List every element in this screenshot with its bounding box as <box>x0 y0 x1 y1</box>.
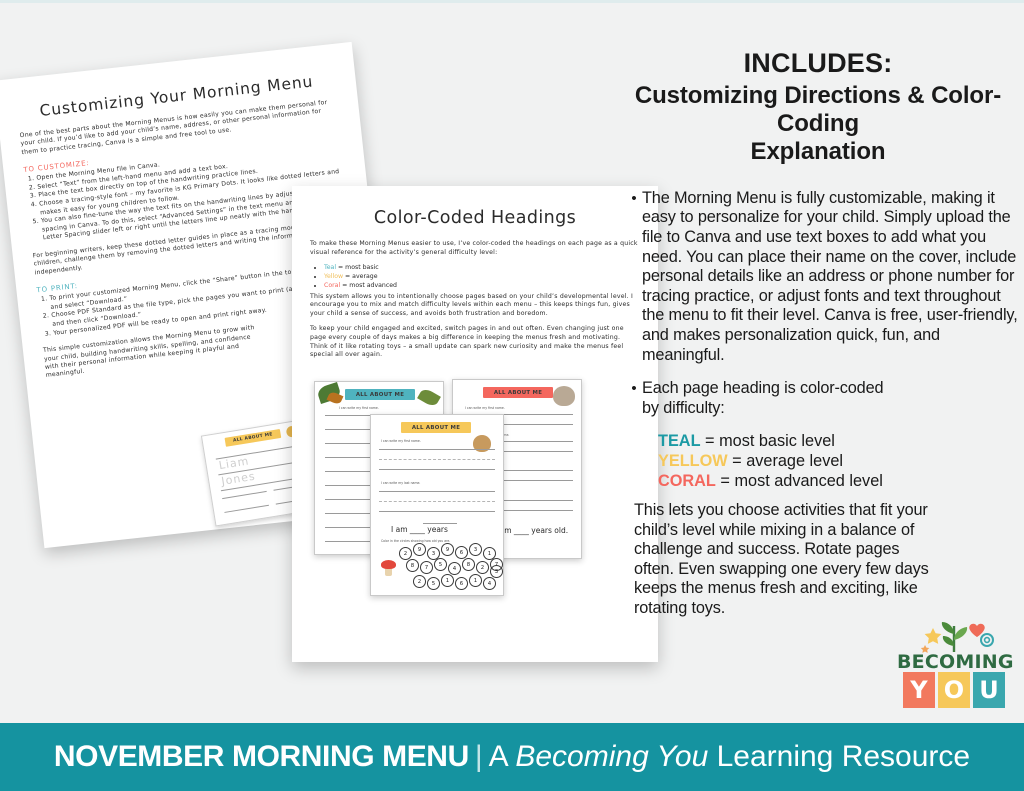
number-circle: 5 <box>427 577 440 590</box>
worksheet-thumbnail-yellow: ALL ABOUT ME I can write my first name. … <box>370 414 504 596</box>
list-item: • The Morning Menu is fully customizable… <box>626 189 1024 365</box>
logo-block-o: O <box>938 672 970 708</box>
doc-color-coded-intro: To make these Morning Menus easier to us… <box>310 240 640 257</box>
banner-text: NOVEMBER MORNING MENU|A Becoming You Lea… <box>54 740 970 774</box>
number-circle: 7 <box>420 561 433 574</box>
number-circle: 5 <box>434 558 447 571</box>
number-circle: 2 <box>413 575 426 588</box>
acorn-icon <box>327 391 344 406</box>
thumbnail-header-label: ALL ABOUT ME <box>225 429 282 447</box>
legend-desc-coral: = most advanced level <box>716 472 883 490</box>
color-legend: TEAL = most basic level YELLOW = average… <box>658 432 1024 491</box>
doc-color-coded-para3: To keep your child engaged and excited, … <box>310 325 640 359</box>
number-circle: 9 <box>441 543 454 556</box>
worksheet-age-line: I am ____ years <box>391 525 448 534</box>
worksheet-prompt: I can write my first name. <box>339 406 379 410</box>
legend-row-coral: CORAL = most advanced level <box>658 472 1024 492</box>
bullet-marker: • <box>626 189 642 365</box>
level-rest: = average <box>343 273 377 280</box>
level-rest: = most basic <box>336 264 379 271</box>
number-circle: 8 <box>406 559 419 572</box>
document-color-coded-headings[interactable]: Color-Coded Headings To make these Morni… <box>292 186 658 662</box>
level-rest: = most advanced <box>340 282 397 289</box>
worksheet-header-yellow: ALL ABOUT ME <box>401 422 471 433</box>
number-circle: 2 <box>399 547 412 560</box>
list-item: Yellow = average <box>324 273 640 282</box>
bullet-marker: • <box>626 379 642 418</box>
list-item: • Each page heading is color-coded by di… <box>626 379 1024 418</box>
doc-color-coded-title: Color-Coded Headings <box>310 208 640 228</box>
banner-brand: Becoming You <box>515 740 708 773</box>
logo-block-u: U <box>973 672 1005 708</box>
worksheet-prompt: I can write my last name. <box>381 481 420 485</box>
worksheet-header-teal: ALL ABOUT ME <box>345 389 415 400</box>
includes-line-2: Customizing Directions & Color-Coding <box>612 82 1024 139</box>
banner-suffix: Learning Resource <box>708 740 970 773</box>
number-circle: 6 <box>455 546 468 559</box>
worksheet-prompt: I can write my first name. <box>381 439 421 443</box>
bottom-banner: NOVEMBER MORNING MENU|A Becoming You Lea… <box>0 723 1024 791</box>
banner-prefix: A <box>489 740 516 773</box>
logo-letter-blocks: Y O U <box>903 672 1005 708</box>
logo-word-becoming: BECOMING <box>897 651 1009 673</box>
right-content-column: INCLUDES: Customizing Directions & Color… <box>612 48 1024 708</box>
level-key-yellow: Yellow <box>324 273 343 280</box>
worksheet-prompt: I can write my first name. <box>465 406 505 410</box>
legend-row-teal: TEAL = most basic level <box>658 432 1024 452</box>
legend-row-yellow: YELLOW = average level <box>658 452 1024 472</box>
doc-color-coded-levels: Teal = most basic Yellow = average Coral… <box>310 264 640 290</box>
level-key-coral: Coral <box>324 282 340 289</box>
raccoon-icon <box>553 386 575 406</box>
list-item: Coral = most advanced <box>324 282 640 291</box>
sprig-decoration-icon <box>911 618 997 654</box>
number-circle: 2 <box>476 561 489 574</box>
worksheet-header-coral: ALL ABOUT ME <box>483 387 553 398</box>
banner-separator: | <box>469 740 489 773</box>
number-circle: 3 <box>469 543 482 556</box>
number-circle: 4 <box>448 562 461 575</box>
number-circle: 6 <box>455 577 468 590</box>
number-circle: 1 <box>469 574 482 587</box>
banner-title: NOVEMBER MORNING MENU <box>54 740 469 773</box>
number-circle: 9 <box>413 543 426 556</box>
legend-key-teal: TEAL <box>658 432 701 450</box>
top-hairline <box>0 0 1024 3</box>
legend-desc-yellow: = average level <box>728 452 843 470</box>
number-circle: 1 <box>441 574 454 587</box>
includes-line-1: INCLUDES: <box>612 48 1024 80</box>
legend-key-yellow: YELLOW <box>658 452 728 470</box>
includes-headline: INCLUDES: Customizing Directions & Color… <box>612 48 1024 167</box>
leaf-icon <box>417 387 441 408</box>
legend-desc-teal: = most basic level <box>701 432 835 450</box>
mushroom-icon <box>381 560 396 569</box>
bullet-list: • The Morning Menu is fully customizable… <box>612 189 1024 419</box>
includes-line-3: Explanation <box>612 138 1024 166</box>
level-key-teal: Teal <box>324 264 336 271</box>
number-circle: 4 <box>483 577 496 590</box>
doc-color-coded-para2: This system allows you to intentionally … <box>310 293 640 319</box>
logo-block-y: Y <box>903 672 935 708</box>
becoming-you-logo: BECOMING Y O U <box>897 618 1009 710</box>
closing-paragraph: This lets you choose activities that fit… <box>634 501 934 619</box>
worksheet-subprompt: Color in the circles showing how old you… <box>381 539 450 543</box>
number-circle: 8 <box>462 558 475 571</box>
legend-key-coral: CORAL <box>658 472 716 490</box>
list-item: Teal = most basic <box>324 264 640 273</box>
bullet-text-color-coded: Each page heading is color-coded by diff… <box>642 379 900 418</box>
number-circle: 3 <box>490 565 503 578</box>
bullet-text-customizable: The Morning Menu is fully customizable, … <box>642 189 1024 365</box>
worksheet-age-line: I am ____ years old. <box>495 526 568 535</box>
